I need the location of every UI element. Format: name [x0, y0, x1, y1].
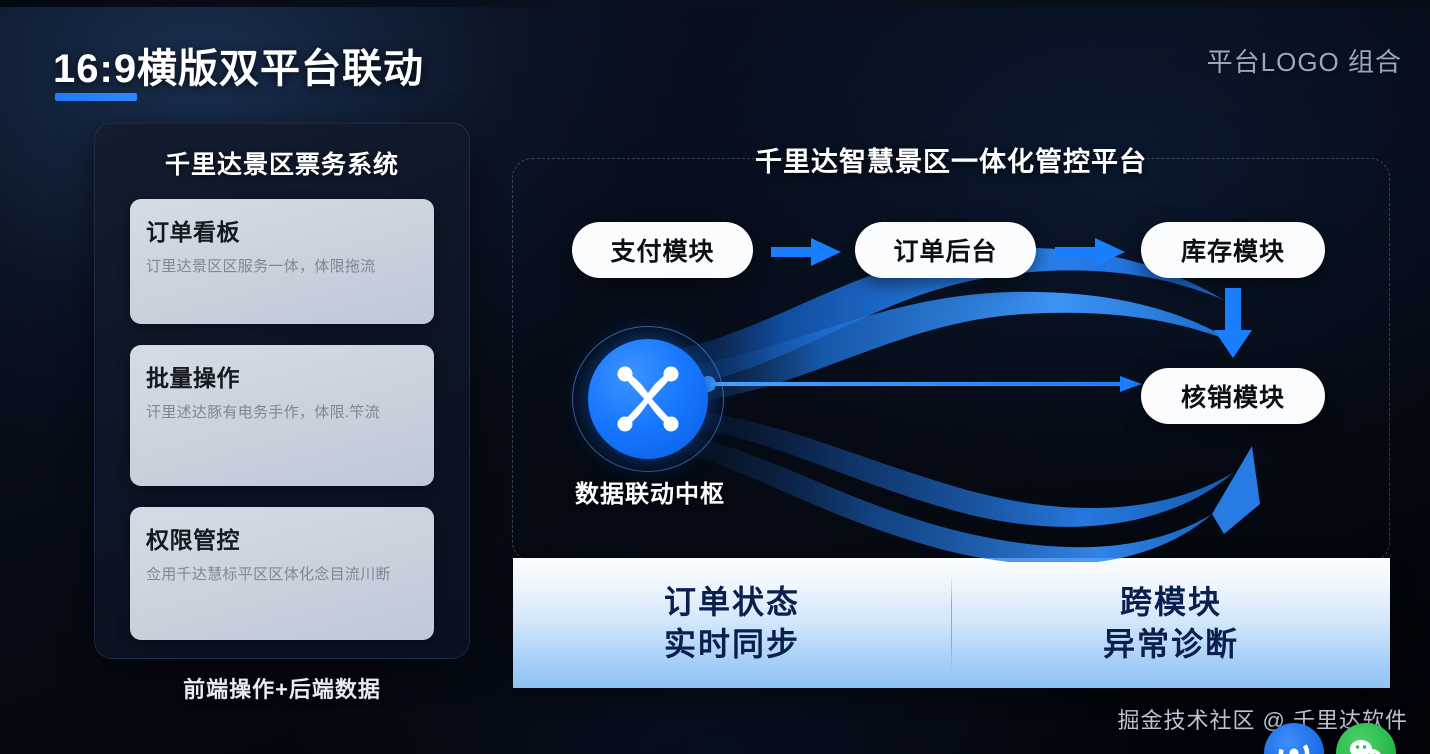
arrow-down-icon — [1212, 288, 1254, 360]
page-title: 16:9横版双平台联动 — [53, 36, 424, 94]
feature-card-title: 权限管控 — [146, 521, 418, 555]
title-underline-accent — [55, 93, 137, 101]
feature-card-desc: 订里达景区区服务一体，体限拖流 — [146, 256, 418, 279]
network-nodes-icon — [609, 360, 687, 438]
wechat-icon — [1348, 738, 1384, 754]
left-panel-footer-caption: 前端操作+后端数据 — [94, 672, 470, 704]
right-panel-title: 千里达智慧景区一体化管控平台 — [512, 140, 1390, 179]
highlight-line-1: 跨模块 — [952, 581, 1390, 623]
highlight-line-2: 实时同步 — [513, 623, 951, 665]
feature-card-desc: 讦里述达豚有电务手作，体限.笇流 — [146, 402, 418, 425]
feature-card-title: 订单看板 — [146, 213, 418, 247]
arrow-right-icon — [771, 236, 843, 268]
app-logo-icon — [1277, 736, 1311, 754]
platform-logo-text: 平台LOGO 组合 — [1207, 42, 1402, 79]
feature-card-batch-operation[interactable]: 批量操作 讦里述达豚有电务手作，体限.笇流 — [130, 345, 434, 486]
flow-node-payment-module[interactable]: 支付模块 — [572, 222, 753, 278]
highlight-line-2: 异常诊断 — [952, 623, 1390, 665]
highlight-cell-cross-module: 跨模块 异常诊断 — [952, 581, 1390, 665]
ticketing-system-panel: 千里达景区票务系统 订单看板 订里达景区区服务一体，体限拖流 批量操作 讦里述达… — [94, 122, 470, 659]
feature-card-desc: 佥用千达慧标平区区体化念目流川断 — [146, 564, 418, 587]
feature-card-order-board[interactable]: 订单看板 订里达景区区服务一体，体限拖流 — [130, 199, 434, 324]
hub-label: 数据联动中枢 — [540, 474, 760, 509]
highlight-cell-order-sync: 订单状态 实时同步 — [513, 581, 951, 665]
top-edge-strip — [0, 0, 1430, 7]
arrow-right-icon — [1055, 236, 1127, 268]
highlight-line-1: 订单状态 — [513, 581, 951, 623]
hub-to-verification-connector — [700, 372, 1150, 396]
flow-node-order-backend[interactable]: 订单后台 — [855, 222, 1036, 278]
slide-canvas: 16:9横版双平台联动 平台LOGO 组合 千里达景区票务系统 订单看板 订里达… — [0, 0, 1430, 754]
flow-node-inventory-module[interactable]: 库存模块 — [1141, 222, 1325, 278]
feature-card-permission-control[interactable]: 权限管控 佥用千达慧标平区区体化念目流川断 — [130, 507, 434, 640]
data-hub-button[interactable] — [588, 339, 708, 459]
left-panel-title: 千里达景区票务系统 — [117, 145, 447, 181]
feature-card-title: 批量操作 — [146, 359, 418, 393]
highlight-bar: 订单状态 实时同步 跨模块 异常诊断 — [513, 558, 1390, 688]
flow-node-verification-module[interactable]: 核销模块 — [1141, 368, 1325, 424]
